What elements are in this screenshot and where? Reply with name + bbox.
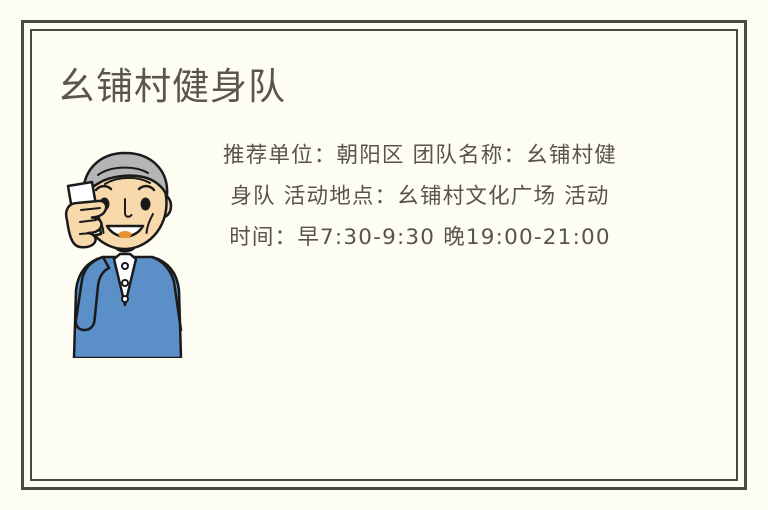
collar-button-1	[122, 263, 128, 269]
collar-button-3	[122, 296, 128, 302]
poster-card: 幺铺村健身队	[0, 0, 768, 510]
team-details: 推荐单位：朝阳区 团队名称：幺铺村健身队 活动地点：幺铺村文化广场 活动时间：早…	[220, 135, 620, 258]
elderly-man-illustration	[55, 140, 195, 358]
poster-body: 推荐单位：朝阳区 团队名称：幺铺村健身队 活动地点：幺铺村文化广场 活动时间：早…	[30, 135, 738, 385]
poster-content: 幺铺村健身队	[30, 29, 738, 481]
elderly-man-svg	[55, 140, 195, 358]
team-details-text: 推荐单位：朝阳区 团队名称：幺铺村健身队 活动地点：幺铺村文化广场 活动时间：早…	[220, 135, 620, 258]
collar-button-2	[122, 280, 128, 286]
tongue	[119, 231, 132, 238]
page-title: 幺铺村健身队	[58, 65, 286, 109]
eye-right	[141, 198, 151, 211]
finger-line-3	[80, 233, 92, 234]
